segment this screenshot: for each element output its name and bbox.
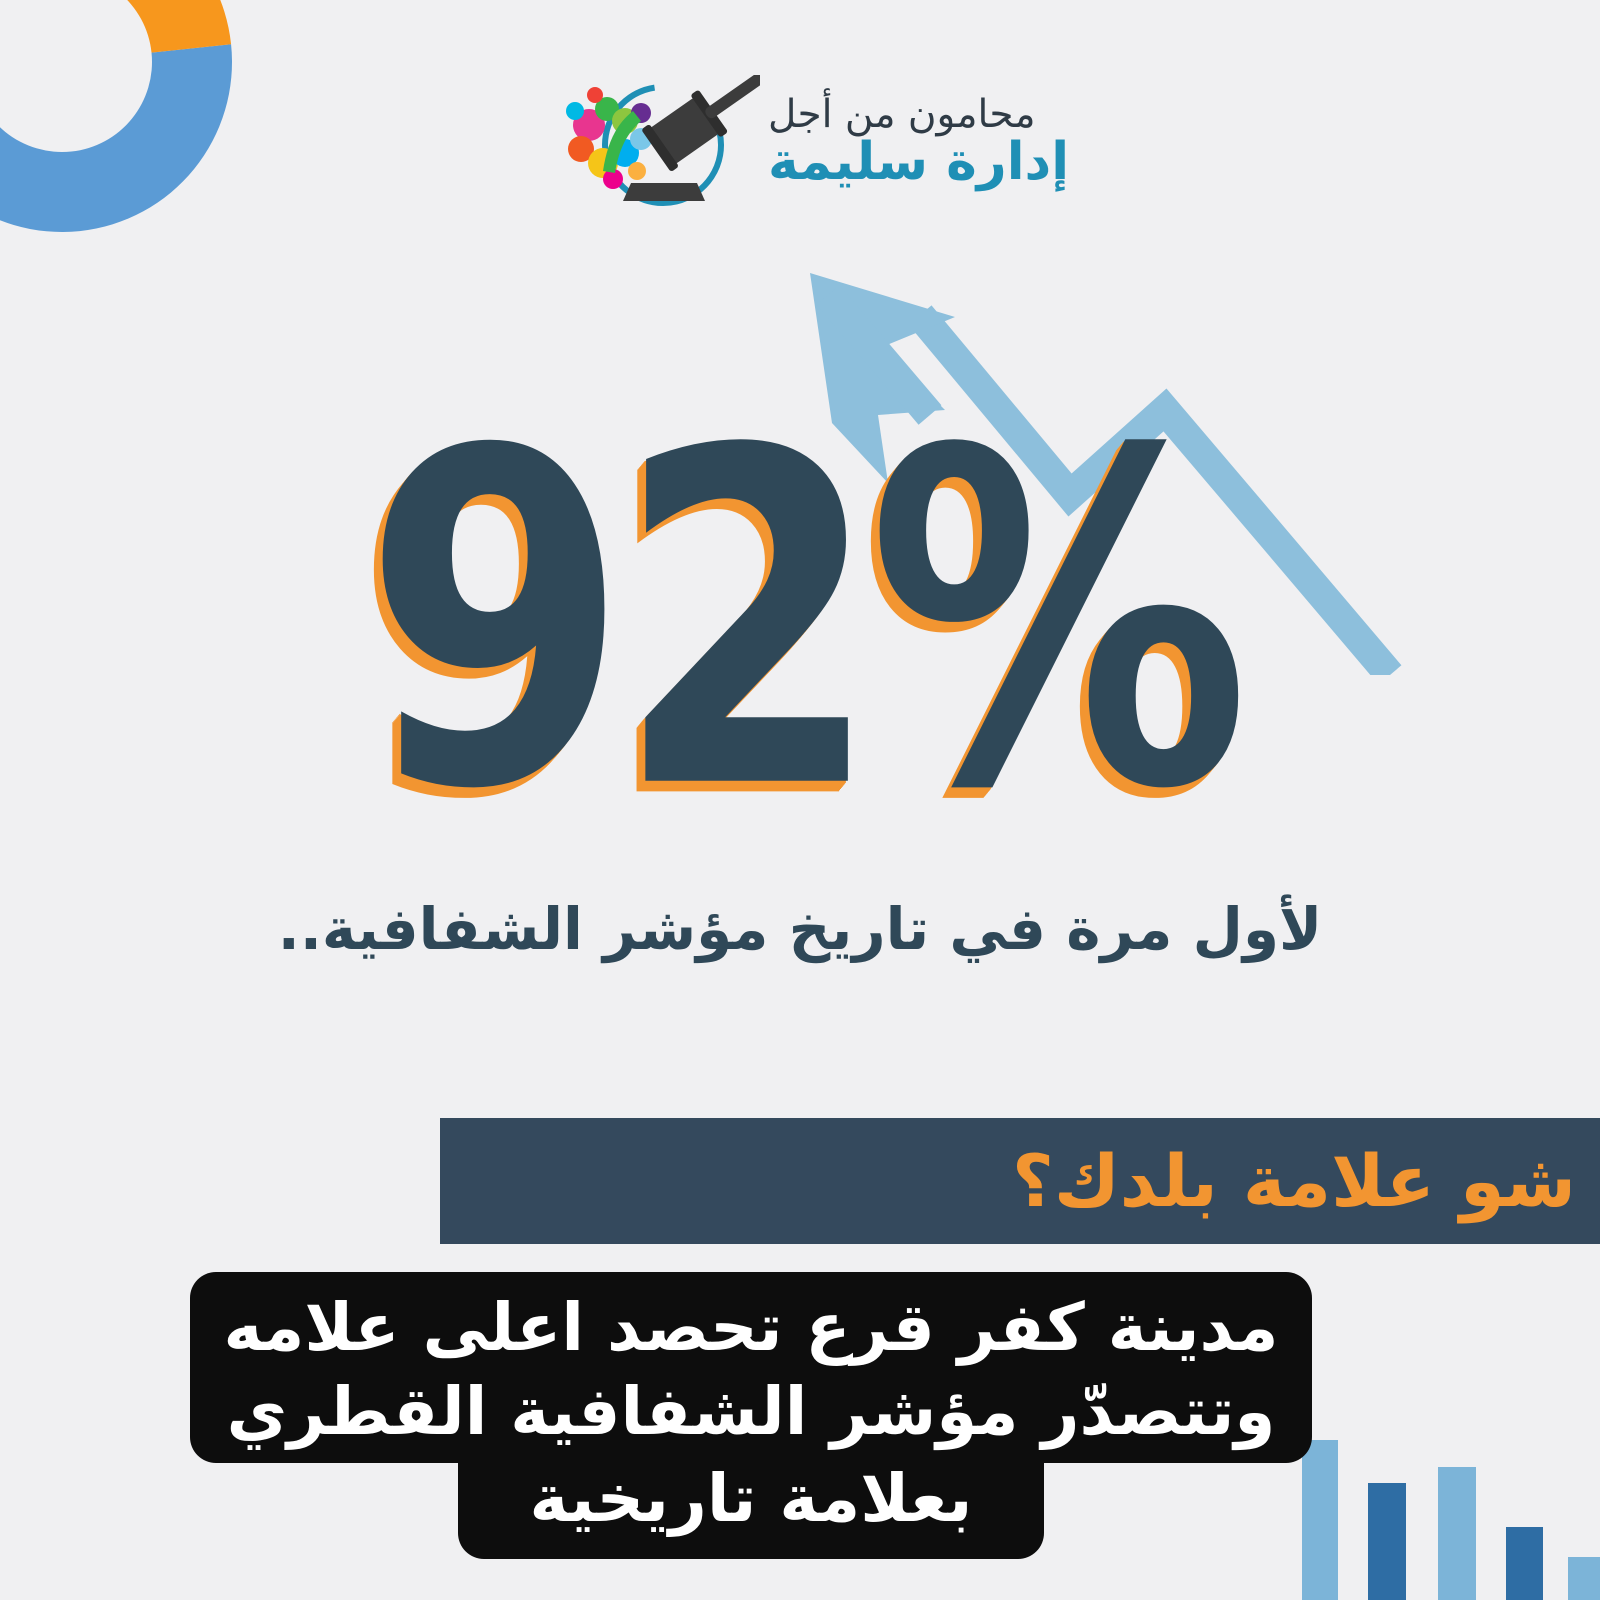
logo-line-1: محامون من أجل (768, 95, 1035, 134)
bar-4 (1506, 1527, 1543, 1600)
donut-orange-segment (44, 0, 231, 62)
gavel-in-circle-icon (545, 75, 760, 215)
arrow-shaft (828, 295, 930, 415)
headline-percentage: 92% (0, 415, 1600, 766)
bar-2 (1368, 1483, 1406, 1600)
bar-5 (1568, 1557, 1600, 1600)
announcement-line-1: مدينة كفر قرع تحصد اعلى علامه (190, 1272, 1312, 1370)
donut-chart-icon (0, 0, 272, 272)
logo-line-2: إدارة سليمة (768, 136, 1069, 188)
subtitle: لأول مرة في تاريخ مؤشر الشفافية.. (0, 895, 1600, 963)
infographic-canvas: محامون من أجل إدارة سليمة 92% لأول مرة ف… (0, 0, 1600, 1600)
announcement-line-3: بعلامة تاريخية (458, 1439, 1044, 1559)
logo: محامون من أجل إدارة سليمة (545, 72, 1025, 217)
upward-trend-arrow-icon (770, 255, 1600, 675)
bar-chart-icon (1290, 1425, 1600, 1600)
bar-3 (1438, 1467, 1476, 1600)
announcement-line-2: وتتصدّر مؤشر الشفافية القطري (190, 1370, 1312, 1462)
donut-blue-segment (0, 0, 249, 249)
arrow-head (810, 273, 955, 483)
question-banner-text: شو علامة بلدك؟ (1012, 1145, 1576, 1217)
question-banner: شو علامة بلدك؟ (440, 1118, 1600, 1244)
announcement-block: مدينة كفر قرع تحصد اعلى علامه وتتصدّر مؤ… (190, 1272, 1312, 1559)
headline-value: 92% (363, 415, 1237, 829)
arrow-zigzag-path (920, 315, 1390, 675)
logo-wordmark: محامون من أجل إدارة سليمة (768, 95, 1069, 194)
